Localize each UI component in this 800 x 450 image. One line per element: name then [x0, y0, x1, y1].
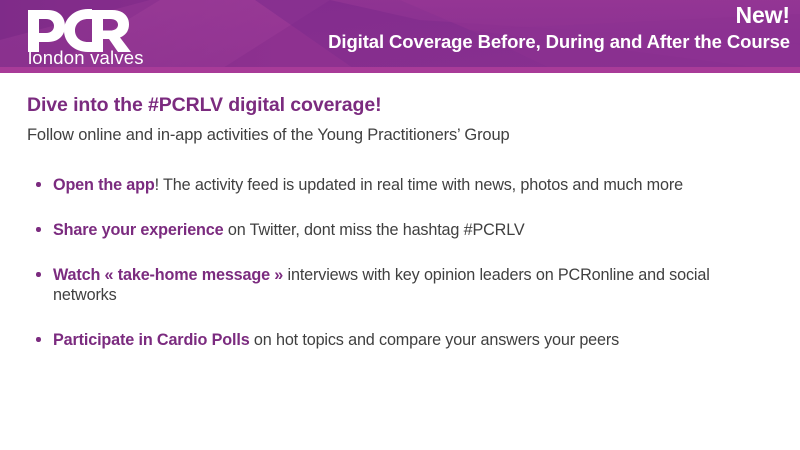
header-subtitle: Digital Coverage Before, During and Afte… [328, 30, 790, 54]
list-item-lead: Open the app [53, 176, 155, 194]
bullet-dot-icon [36, 227, 41, 232]
new-badge: New! [735, 1, 790, 29]
list-item-text: on Twitter, dont miss the hashtag #PCRLV [224, 221, 525, 239]
list-item: Watch « take-home message » interviews w… [27, 265, 772, 305]
bullet-dot-icon [36, 182, 41, 187]
list-item: Share your experience on Twitter, dont m… [27, 220, 772, 240]
bullet-list: Open the app! The activity feed is updat… [27, 175, 772, 350]
slide-body: Dive into the #PCRLV digital coverage! F… [0, 73, 800, 450]
list-item-lead: Share your experience [53, 221, 224, 239]
bullet-dot-icon [36, 272, 41, 277]
list-item-text: on hot topics and compare your answers y… [250, 331, 620, 349]
list-item-text: ! The activity feed is updated in real t… [155, 176, 683, 194]
bullet-dot-icon [36, 337, 41, 342]
list-item: Participate in Cardio Polls on hot topic… [27, 330, 772, 350]
page-title: Dive into the #PCRLV digital coverage! [27, 94, 382, 117]
slide: london valves New! Digital Coverage Befo… [0, 0, 800, 450]
list-item-lead: Watch « take-home message » [53, 266, 283, 284]
list-item: Open the app! The activity feed is updat… [27, 175, 772, 195]
svg-text:london valves: london valves [28, 47, 144, 66]
list-item-lead: Participate in Cardio Polls [53, 331, 250, 349]
header-band: london valves New! Digital Coverage Befo… [0, 0, 800, 73]
pcr-london-valves-logo: london valves [26, 8, 176, 66]
page-subtitle: Follow online and in-app activities of t… [27, 126, 510, 145]
